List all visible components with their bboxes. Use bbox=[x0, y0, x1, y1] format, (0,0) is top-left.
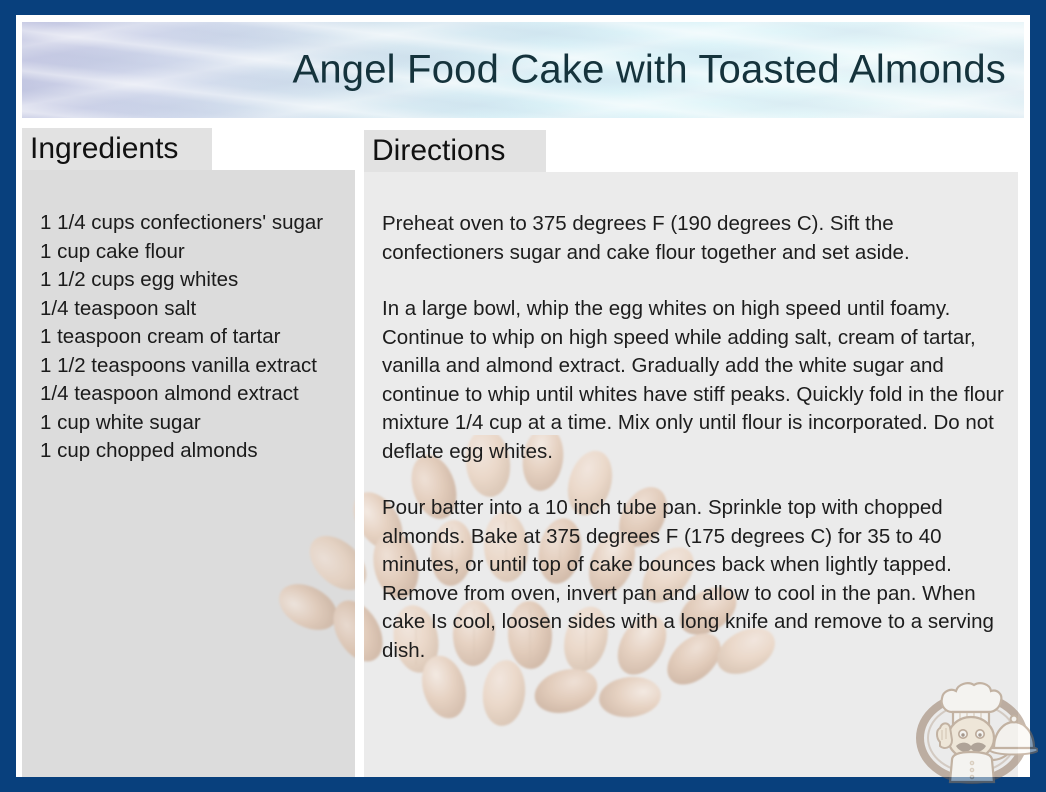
card-sheet: Angel Food Cake with Toasted Almonds Ing… bbox=[16, 15, 1030, 777]
list-item: 1/4 teaspoon salt bbox=[40, 295, 347, 324]
direction-paragraph: Pour batter into a 10 inch tube pan. Spr… bbox=[382, 494, 1007, 665]
ingredients-heading: Ingredients bbox=[30, 134, 178, 164]
chef-mascot-logo bbox=[906, 660, 1038, 792]
column-divider bbox=[355, 170, 364, 777]
list-item: 1 cup white sugar bbox=[40, 409, 347, 438]
list-item: 1 1/2 cups egg whites bbox=[40, 266, 347, 295]
list-item: 1/4 teaspoon almond extract bbox=[40, 380, 347, 409]
list-item: 1 1/4 cups confectioners' sugar bbox=[40, 209, 347, 238]
directions-header-tab: Directions bbox=[364, 130, 546, 172]
page-title: Angel Food Cake with Toasted Almonds bbox=[292, 48, 1006, 93]
list-item: 1 cup cake flour bbox=[40, 238, 347, 267]
recipe-card: Angel Food Cake with Toasted Almonds Ing… bbox=[0, 0, 1046, 792]
list-item: 1 cup chopped almonds bbox=[40, 437, 347, 466]
list-item: 1 teaspoon cream of tartar bbox=[40, 323, 347, 352]
direction-paragraph: In a large bowl, whip the egg whites on … bbox=[382, 295, 1007, 466]
ingredients-list: 1 1/4 cups confectioners' sugar 1 cup ca… bbox=[40, 209, 347, 466]
list-item: 1 1/2 teaspoons vanilla extract bbox=[40, 352, 347, 381]
direction-paragraph: Preheat oven to 375 degrees F (190 degre… bbox=[382, 210, 1007, 267]
ingredients-panel: 1 1/4 cups confectioners' sugar 1 cup ca… bbox=[22, 170, 355, 777]
title-banner: Angel Food Cake with Toasted Almonds bbox=[22, 22, 1024, 118]
ingredients-header-tab: Ingredients bbox=[22, 128, 212, 170]
directions-heading: Directions bbox=[372, 136, 505, 166]
directions-body: Preheat oven to 375 degrees F (190 degre… bbox=[382, 210, 1007, 665]
